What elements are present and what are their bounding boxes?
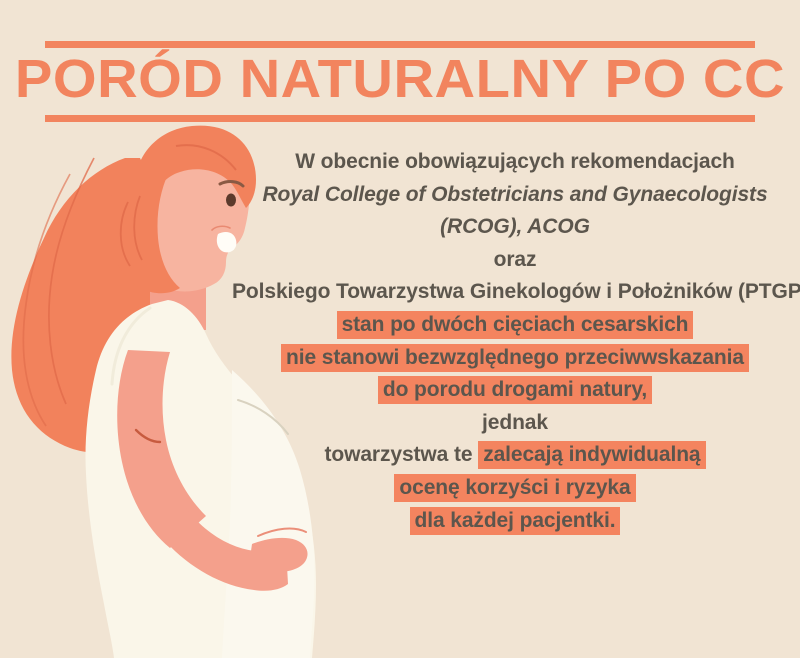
copy-line-6: stan po dwóch cięciach cesarskich — [232, 309, 798, 342]
highlight-text-12: dla każdej pacjentki. — [410, 507, 621, 535]
copy-line-5: Polskiego Towarzystwa Ginekologów i Poło… — [232, 276, 798, 309]
highlight-text-10: zalecają indywidualną — [478, 441, 705, 469]
body-copy: W obecnie obowiązujących rekomendacjach … — [232, 146, 798, 537]
plain-text-10: towarzystwa te — [324, 443, 478, 466]
copy-line-4: oraz — [232, 244, 798, 277]
copy-line-2: Royal College of Obstetricians and Gynae… — [232, 179, 798, 212]
header: PORÓD NATURALNY PO CC — [0, 0, 800, 128]
copy-line-3: (RCOG), ACOG — [232, 211, 798, 244]
copy-line-10: towarzystwa te zalecają indywidualną — [232, 439, 798, 472]
copy-line-9: jednak — [232, 407, 798, 440]
copy-line-7: nie stanowi bezwzględnego przeciwwskazan… — [232, 342, 798, 375]
highlight-text-11: ocenę korzyści i ryzyka — [394, 474, 635, 502]
copy-line-12: dla każdej pacjentki. — [232, 505, 798, 538]
highlight-text-6: stan po dwóch cięciach cesarskich — [337, 311, 694, 339]
copy-line-11: ocenę korzyści i ryzyka — [232, 472, 798, 505]
title-rule-top — [45, 41, 755, 48]
infographic-canvas: PORÓD NATURALNY PO CC — [0, 0, 800, 658]
page-title: PORÓD NATURALNY PO CC — [0, 49, 800, 109]
copy-line-8: do porodu drogami natury, — [232, 374, 798, 407]
highlight-text-8: do porodu drogami natury, — [378, 376, 652, 404]
highlight-text-7: nie stanowi bezwzględnego przeciwwskazan… — [281, 344, 749, 372]
copy-line-1: W obecnie obowiązujących rekomendacjach — [232, 146, 798, 179]
